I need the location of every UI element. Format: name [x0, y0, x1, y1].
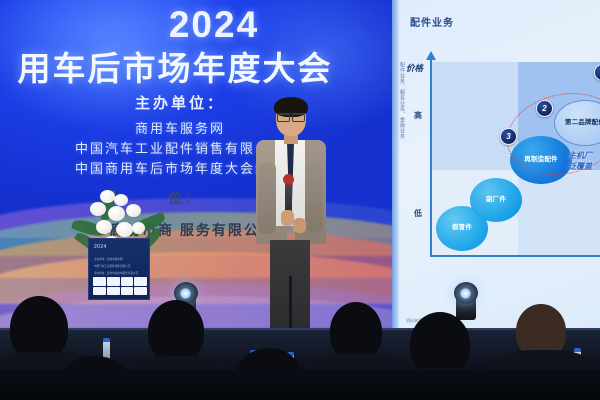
glasses-icon	[277, 113, 305, 119]
y-axis-label: 价格	[406, 62, 423, 74]
y-axis	[430, 58, 432, 256]
audience-head	[330, 302, 382, 360]
stage-backdrop: 2024 用车后市场年度大会 主办单位： 商用车服务网 中国汽车工业配件销售有限…	[0, 0, 392, 330]
bubble-matrix-chart: 价格 高 低 高 假冒件 副厂件 再制造配件 第二品牌配件 第一品牌配件 1 2…	[418, 58, 600, 273]
conference-photo: 2024 用车后市场年度大会 主办单位： 商用车服务网 中国汽车工业配件销售有限…	[0, 0, 600, 400]
y-tick-low: 低	[414, 208, 422, 219]
audience-head	[148, 300, 204, 362]
speaker-arm-left	[258, 162, 276, 234]
y-tick-high: 高	[414, 110, 422, 121]
speaker-arm-right	[305, 162, 323, 232]
banner-line-3: 承办单位：廊坊市商用车服务有限公司	[94, 271, 146, 275]
audience-table-row	[0, 370, 600, 400]
speaker-hand-right	[293, 218, 306, 233]
slide-title: 配件业务	[410, 14, 454, 29]
oem-annotation: 主机厂 泛覆盖	[568, 150, 592, 172]
backdrop-year: 2024	[18, 4, 392, 46]
quadrant-bottom-right	[518, 170, 600, 256]
stage-light-right	[452, 282, 480, 322]
badge-2: 2	[536, 100, 553, 117]
banner-line-1: 主办单位：商用车服务网	[94, 257, 146, 261]
banner-line-2: 中国汽车工业配件销售有限公司	[94, 264, 146, 268]
microphone-icon	[285, 180, 292, 214]
banner-title: 2024	[94, 244, 107, 250]
microphone-head	[283, 174, 294, 185]
oem-annotation-line1: 主机厂	[568, 151, 592, 160]
audience-head	[10, 296, 68, 360]
speaker	[248, 100, 332, 362]
sponsor-logo-grid	[93, 277, 147, 295]
backdrop-headline: 用车后市场年度大会	[0, 42, 385, 90]
badge-3: 3	[500, 128, 517, 145]
oem-annotation-line2: 泛覆盖	[568, 162, 592, 171]
audience-head	[410, 312, 470, 376]
presentation-slide: 配件业务 配件业务、服务业务、金融业务 价格 高 低 高 假冒件 副厂件 再制造…	[392, 0, 600, 330]
backdrop-text-block: 2024 用车后市场年度大会 主办单位： 商用车服务网 中国汽车工业配件销售有限…	[0, 0, 392, 330]
quadrant-top-left	[430, 62, 518, 170]
floor-banner: 2024 主办单位：商用车服务网 中国汽车工业配件销售有限公司 承办单位：廊坊市…	[88, 238, 150, 300]
bubble-aftermarket-parts: 副厂件	[470, 178, 522, 222]
x-axis	[430, 255, 600, 257]
slide-side-note: 配件业务、服务业务、金融业务	[392, 62, 405, 190]
